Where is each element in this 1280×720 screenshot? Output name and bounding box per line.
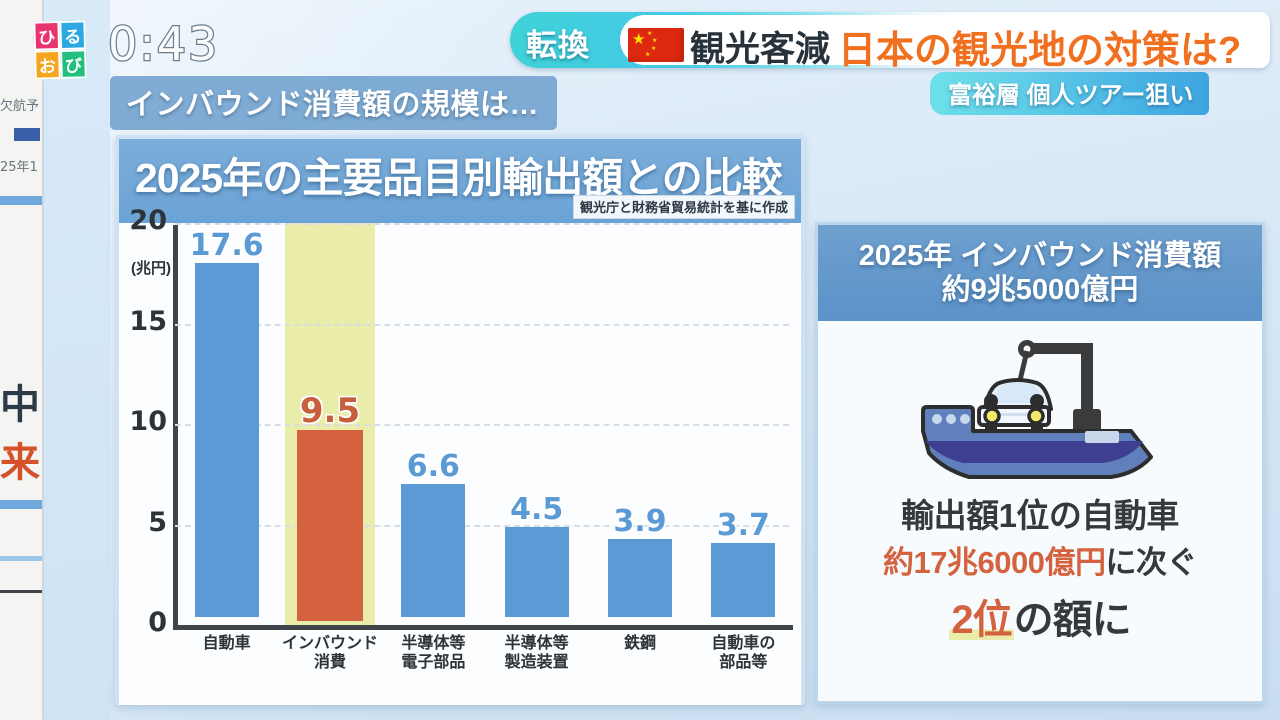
chart-panel: 2025年の主要品目別輸出額との比較 観光庁と財務省貿易統計を基に作成 (兆円)… [115,135,805,705]
x-axis-category-label: 鉄鋼 [584,635,696,654]
chart-bar: 17.6 [182,231,272,617]
info-line-2-suffix: に次ぐ [1105,545,1197,580]
info-line-1: 輸出額1位の自動車 [818,489,1262,537]
info-line-2: 約17兆6000億円に次ぐ [818,537,1262,582]
y-axis-tick-label: 10 [119,406,167,437]
info-line-3: 2位の額に [818,587,1262,645]
chart-source-note: 観光庁と財務省貿易統計を基に作成 [573,195,795,219]
category-label-line: 部品等 [687,654,799,673]
chart-geometry: (兆円) 0510152017.6自動車9.5インバウンド消費6.6半導体等電子… [119,223,801,705]
y-axis-tick-label: 20 [119,205,167,236]
info-line-2-amount: 約17兆6000億円 [883,545,1105,580]
gridline [175,223,789,225]
x-axis-category-label: 自動車 [171,635,283,654]
y-axis-tick-label: 15 [119,306,167,337]
y-axis-tick-label: 5 [119,507,167,538]
bar-rect [195,263,259,617]
chart-bar: 3.7 [698,511,788,617]
bar-value-label: 4.5 [510,495,563,525]
flag-star-2: ★ [652,38,657,44]
on-air-clock: 0:43 [108,17,219,71]
logo-char-hi: ひ [33,21,60,51]
flag-star-4: ★ [645,52,650,58]
chart-bar: 3.9 [595,507,685,617]
flag-star-large: ★ [632,32,645,47]
x-axis-category-label: 半導体等電子部品 [377,635,489,673]
category-label-line: 電子部品 [377,654,489,673]
bar-rect [297,430,363,621]
background-block [14,128,40,141]
category-label-line: 消費 [274,654,386,673]
background-side-panel: 欠航予 25年1 中 来 [0,0,44,720]
bar-rect [401,484,465,617]
headline-text-primary: 観光客減 [690,21,830,72]
chart-bar: 9.5 [285,394,375,621]
info-panel-body: 輸出額1位の自動車 約17兆6000億円に次ぐ 2位の額に [818,321,1262,707]
category-label-line: 製造装置 [481,654,593,673]
background-big-char-1: 中 [0,372,44,430]
bar-value-label: 3.9 [613,507,666,537]
chart-plot-area: (兆円) 0510152017.6自動車9.5インバウンド消費6.6半導体等電子… [119,223,801,705]
chart-bar: 4.5 [492,495,582,617]
bar-rect [505,527,569,617]
info-panel: 2025年 インバウンド消費額 約9兆5000億円 [815,222,1265,704]
category-label-line: 半導体等 [481,635,593,654]
chart-title-bar: 2025年の主要品目別輸出額との比較 観光庁と財務省貿易統計を基に作成 [119,139,801,223]
category-label-line: インバウンド [274,635,386,654]
background-rule-3 [0,556,44,561]
background-text-line2: 25年1 [0,156,44,175]
bar-value-label: 17.6 [190,231,264,261]
info-header-line2: 約9兆5000億円 [942,273,1139,307]
info-header-line1: 2025年 インバウンド消費額 [859,239,1222,273]
background-rule-1 [0,196,44,205]
x-axis-line [173,625,793,630]
info-panel-header: 2025年 インバウンド消費額 約9兆5000億円 [818,225,1262,321]
flag-star-1: ★ [647,31,652,37]
headline-sub-banner: 富裕層 個人ツアー狙い [930,72,1209,115]
info-line-3-suffix: の額に [1014,598,1131,642]
headline-banner: 転換 ★ ★ ★ ★ ★ 観光客減 日本の観光地の対策は? 富裕層 個人ツアー狙… [500,6,1280,118]
headline-badge: 転換 [526,20,590,65]
logo-char-o: お [34,50,61,80]
topic-banner: インバウンド消費額の規模は… [110,76,557,130]
background-text-line1: 欠航予 [0,95,44,114]
program-logo: ひ る お び [33,20,86,73]
background-rule-2 [0,500,44,509]
x-axis-category-label: インバウンド消費 [274,635,386,673]
background-big-char-2: 来 [0,430,44,488]
y-axis-tick-label: 0 [119,607,167,638]
cargo-ship-with-car-icon [913,331,1173,481]
x-axis-category-label: 半導体等製造装置 [481,635,593,673]
bar-value-label: 9.5 [300,394,360,428]
headline-text-question: 日本の観光地の対策は? [838,19,1241,74]
y-axis-unit-label: (兆円) [121,257,171,278]
y-axis-line [173,225,178,627]
info-line-3-rank: 2位 [949,598,1013,642]
background-rule-4 [0,590,44,593]
flag-star-3: ★ [651,46,656,52]
bar-value-label: 6.6 [407,452,460,482]
x-axis-category-label: 自動車の部品等 [687,635,799,673]
logo-char-ru: る [59,20,86,50]
category-label-line: 鉄鋼 [584,635,696,654]
logo-char-bi: び [60,49,87,79]
china-flag-icon: ★ ★ ★ ★ ★ [628,28,684,62]
background-side-panel-2 [44,0,110,720]
category-label-line: 半導体等 [377,635,489,654]
bar-rect [608,539,672,617]
bar-rect [711,543,775,617]
bar-value-label: 3.7 [717,511,770,541]
chart-bar: 6.6 [388,452,478,617]
category-label-line: 自動車 [171,635,283,654]
category-label-line: 自動車の [687,635,799,654]
